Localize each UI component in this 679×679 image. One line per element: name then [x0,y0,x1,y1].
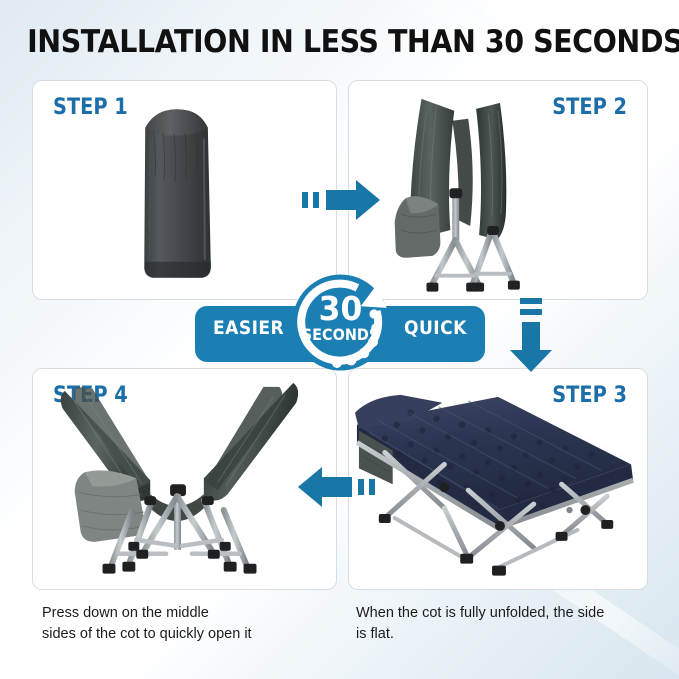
thirty-seconds-badge: EASIER QUICK 30 SECONDS [195,300,485,368]
badge-number: 30 [291,292,391,325]
connector-step2-to-step3 [492,296,570,376]
badge-word-easier: EASIER [213,317,284,339]
unfolded-cot-illustration [349,369,647,590]
page-title: INSTALLATION IN LESS THAN 30 SECONDS [27,24,652,60]
folded-cot-upright-illustration [349,81,647,300]
arrow-down-icon [492,296,570,376]
infographic-poster: INSTALLATION IN LESS THAN 30 SECONDS STE… [0,0,679,679]
partially-open-cot-illustration [33,369,336,590]
caption-step-3: When the cot is fully unfolded, the side… [356,603,656,645]
caption-step-4: Press down on the middle sides of the co… [42,603,332,645]
arrow-left-icon [292,462,378,512]
badge-unit: SECONDS [293,327,388,343]
connector-step1-to-step2 [300,176,384,224]
carry-bag-illustration [33,81,336,300]
arrow-right-icon [300,176,384,224]
panel-step-3: STEP 3 [348,368,648,590]
panel-step-1: STEP 1 [32,80,337,300]
badge-word-quick: QUICK [404,317,467,339]
connector-step3-to-step4 [292,462,378,512]
badge-circle: 30 SECONDS [288,270,393,375]
panel-step-2: STEP 2 [348,80,648,300]
